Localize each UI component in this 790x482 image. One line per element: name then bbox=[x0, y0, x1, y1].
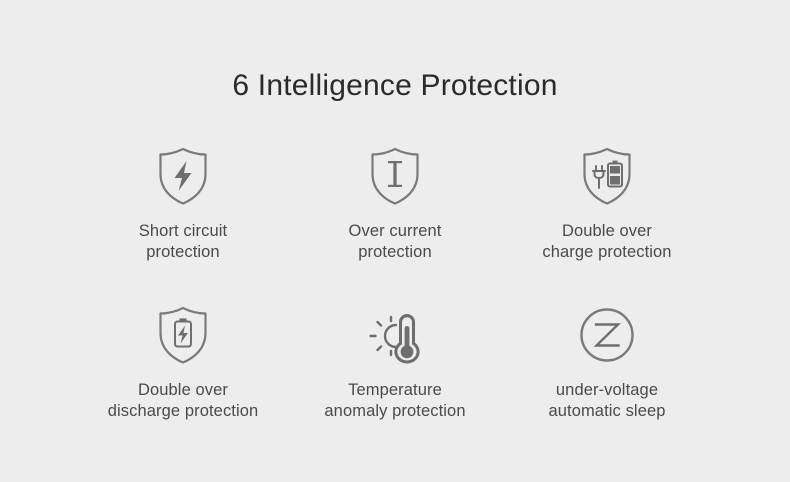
shield-lightning-icon bbox=[150, 143, 216, 209]
protection-features-panel: 6 Intelligence Protection Short circuit … bbox=[0, 0, 790, 482]
features-row-1: Short circuit protection Over current pr… bbox=[77, 143, 713, 264]
feature-label: Double over discharge protection bbox=[108, 380, 259, 423]
feature-label: under-voltage automatic sleep bbox=[548, 380, 665, 423]
feature-item: Double over charge protection bbox=[501, 143, 713, 264]
circle-letter-z-icon bbox=[574, 302, 640, 368]
page-title: 6 Intelligence Protection bbox=[0, 68, 790, 104]
features-row-2: Double over discharge protection bbox=[77, 302, 713, 423]
feature-item: Short circuit protection bbox=[77, 143, 289, 264]
feature-item: Double over discharge protection bbox=[77, 302, 289, 423]
feature-item: Temperature anomaly protection bbox=[289, 302, 501, 423]
feature-item: Over current protection bbox=[289, 143, 501, 264]
sun-thermometer-icon bbox=[362, 302, 428, 368]
features-grid: Short circuit protection Over current pr… bbox=[77, 143, 713, 423]
feature-label: Short circuit protection bbox=[139, 221, 227, 264]
shield-battery-lightning-icon bbox=[150, 302, 216, 368]
feature-label: Temperature anomaly protection bbox=[324, 380, 465, 423]
feature-label: Over current protection bbox=[349, 221, 442, 264]
feature-label: Double over charge protection bbox=[542, 221, 671, 264]
shield-battery-plug-icon bbox=[574, 143, 640, 209]
feature-item: under-voltage automatic sleep bbox=[501, 302, 713, 423]
shield-letter-i-icon bbox=[362, 143, 428, 209]
